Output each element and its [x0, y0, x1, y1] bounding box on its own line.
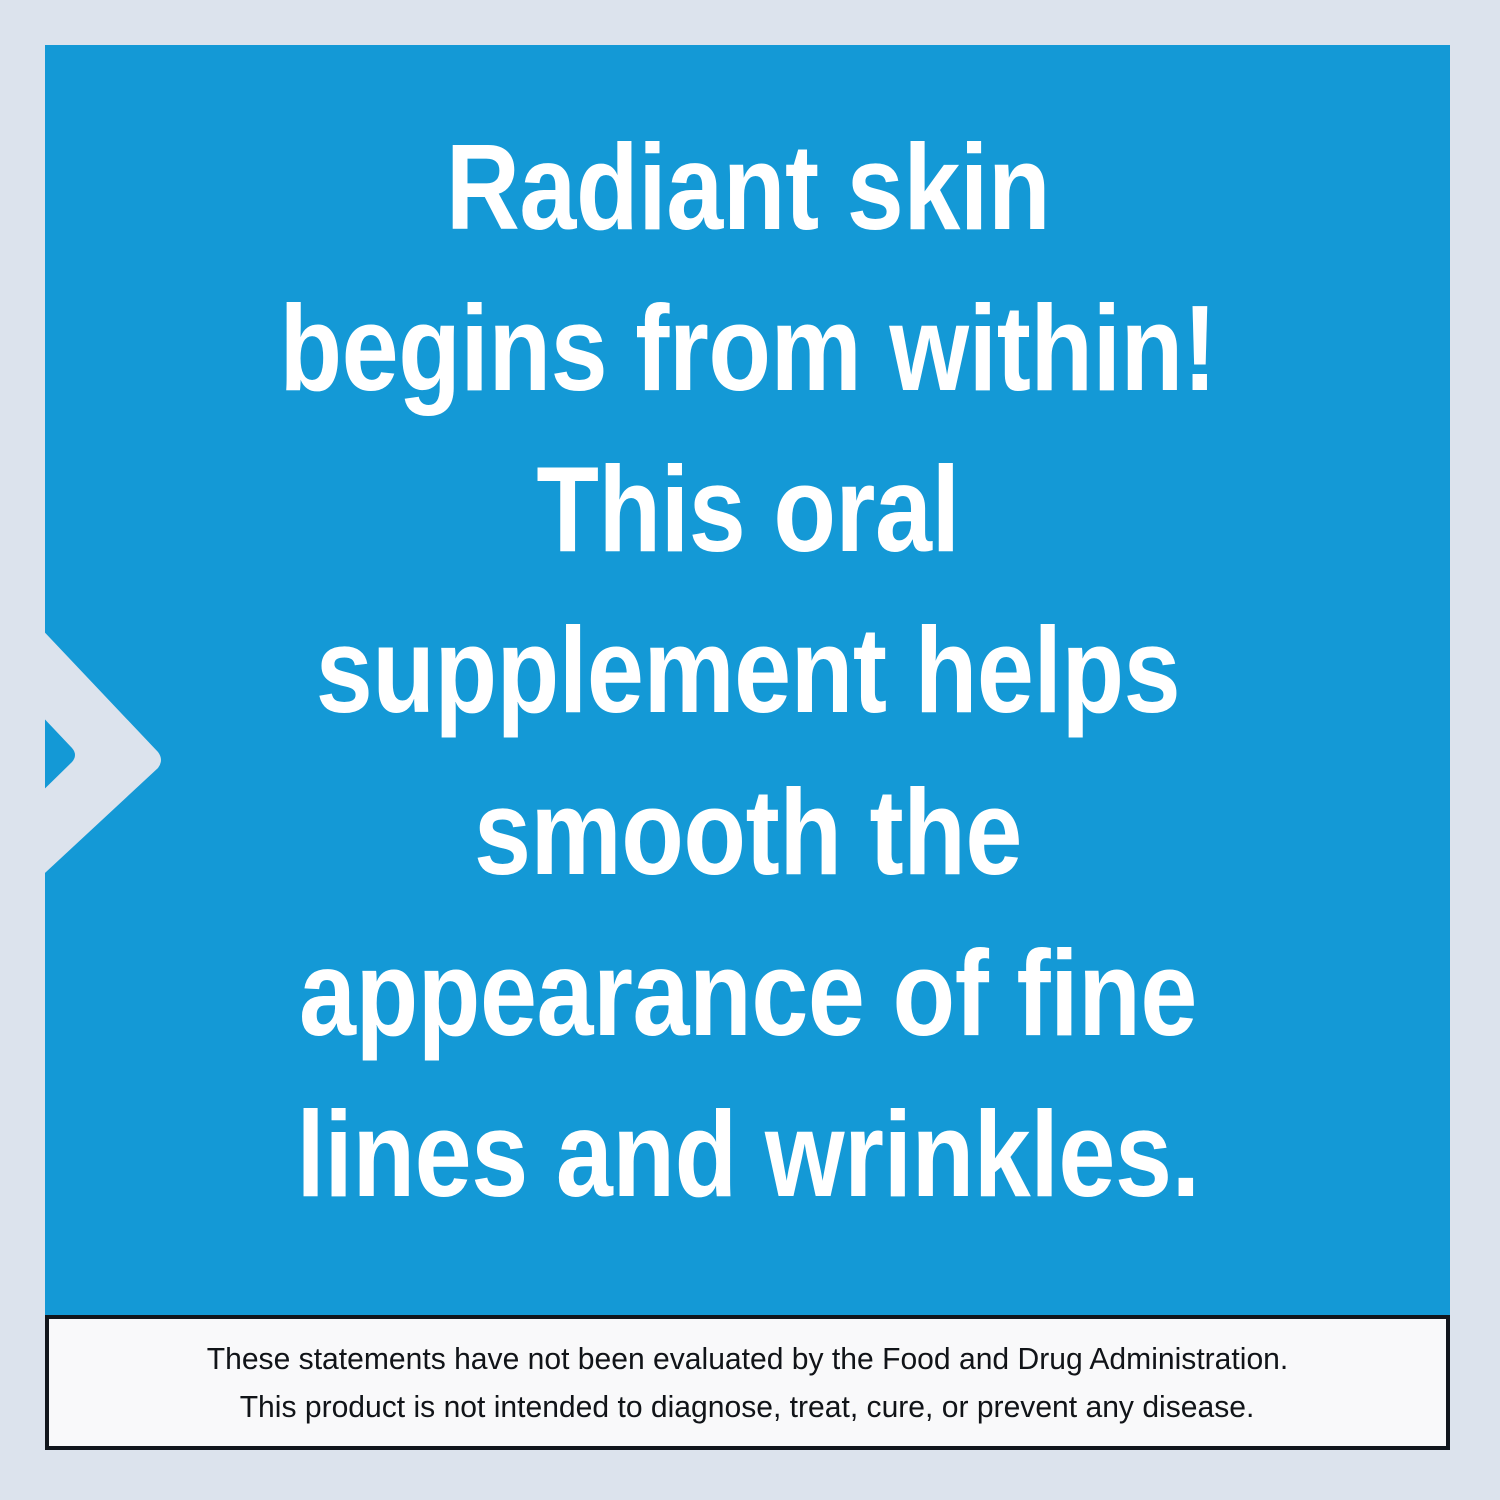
disclaimer-line-2: This product is not intended to diagnose…	[240, 1383, 1255, 1430]
page-title: Radiant skin begins from within! This or…	[273, 107, 1222, 1252]
disclaimer-line-1: These statements have not been evaluated…	[207, 1335, 1289, 1382]
promo-graphic-canvas: Radiant skin begins from within! This or…	[0, 0, 1500, 1500]
fda-disclaimer-box: These statements have not been evaluated…	[45, 1315, 1450, 1450]
hero-panel: Radiant skin begins from within! This or…	[45, 45, 1450, 1315]
